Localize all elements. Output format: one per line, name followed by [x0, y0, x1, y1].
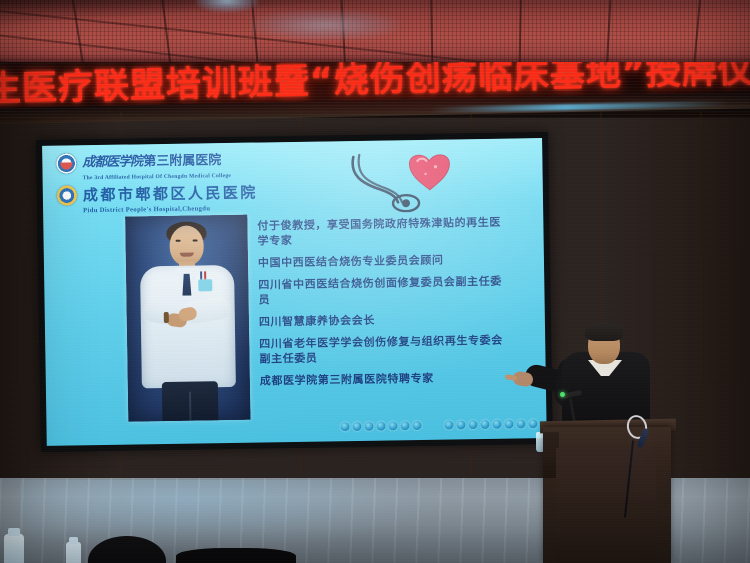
water-bottle — [4, 534, 24, 563]
slide-bio-text: 付于俊教授，享受国务院政府特殊津贴的再生医学专家 中国中西医结合烧伤专业委员会顾… — [257, 215, 510, 396]
heart-stethoscope-icon — [347, 149, 498, 213]
conference-hall-photo: 生医疗联盟培训班暨“烧伤创疡临床基地”授牌仪式 成都医学院第三附属医院 The … — [0, 0, 750, 563]
bio-line: 付于俊教授，享受国务院政府特殊津贴的再生医学专家 — [257, 215, 507, 249]
logo-primary-chinese: 成都医学院第三附属医院 — [82, 154, 221, 170]
logo-secondary-english: Pidu District People's Hospital,Chengdu — [83, 203, 357, 215]
logo-script-text: 成都医学院 — [82, 154, 142, 170]
bio-line: 中国中西医结合烧伤专业委员会顾问 — [258, 252, 508, 271]
badge-group-2 — [444, 419, 537, 429]
speaker-hair — [585, 322, 623, 341]
floor-screen-glow — [20, 480, 440, 550]
ceiling-light — [196, 0, 258, 12]
logo-primary-english: The 3rd Affiliated Hospital Of Chengdu M… — [83, 171, 357, 182]
bio-line: 四川智慧康养协会会长 — [259, 311, 509, 330]
badge-group-1 — [340, 421, 421, 431]
podium-front-panel — [556, 448, 656, 563]
logo-bold-text: 第三附属医院 — [143, 153, 221, 169]
logo-secondary-chinese: 成都市郫都区人民医院 — [83, 184, 258, 204]
foreground-silhouette — [176, 548, 296, 563]
microphone-status-led — [560, 392, 565, 397]
hospital-emblem-icon-2 — [57, 185, 77, 205]
slide-logo-block: 成都医学院第三附属医院 The 3rd Affiliated Hospital … — [56, 149, 357, 216]
doctor-portrait-photo — [125, 215, 250, 422]
decorative-badge-row — [340, 419, 537, 431]
hospital-emblem-icon — [56, 153, 76, 173]
bio-line: 四川省中西医结合烧伤创面修复委员会副主任委员 — [258, 274, 508, 308]
bio-line: 成都医学院第三附属医院特聘专家 — [260, 370, 510, 389]
projection-screen-bezel: 成都医学院第三附属医院 The 3rd Affiliated Hospital … — [36, 132, 553, 452]
ceiling-light — [250, 10, 400, 40]
presentation-slide: 成都医学院第三附属医院 The 3rd Affiliated Hospital … — [42, 138, 547, 446]
water-bottle — [66, 542, 81, 563]
bio-line: 四川省老年医学学会创伤修复与组织再生专委会副主任委员 — [259, 333, 509, 367]
